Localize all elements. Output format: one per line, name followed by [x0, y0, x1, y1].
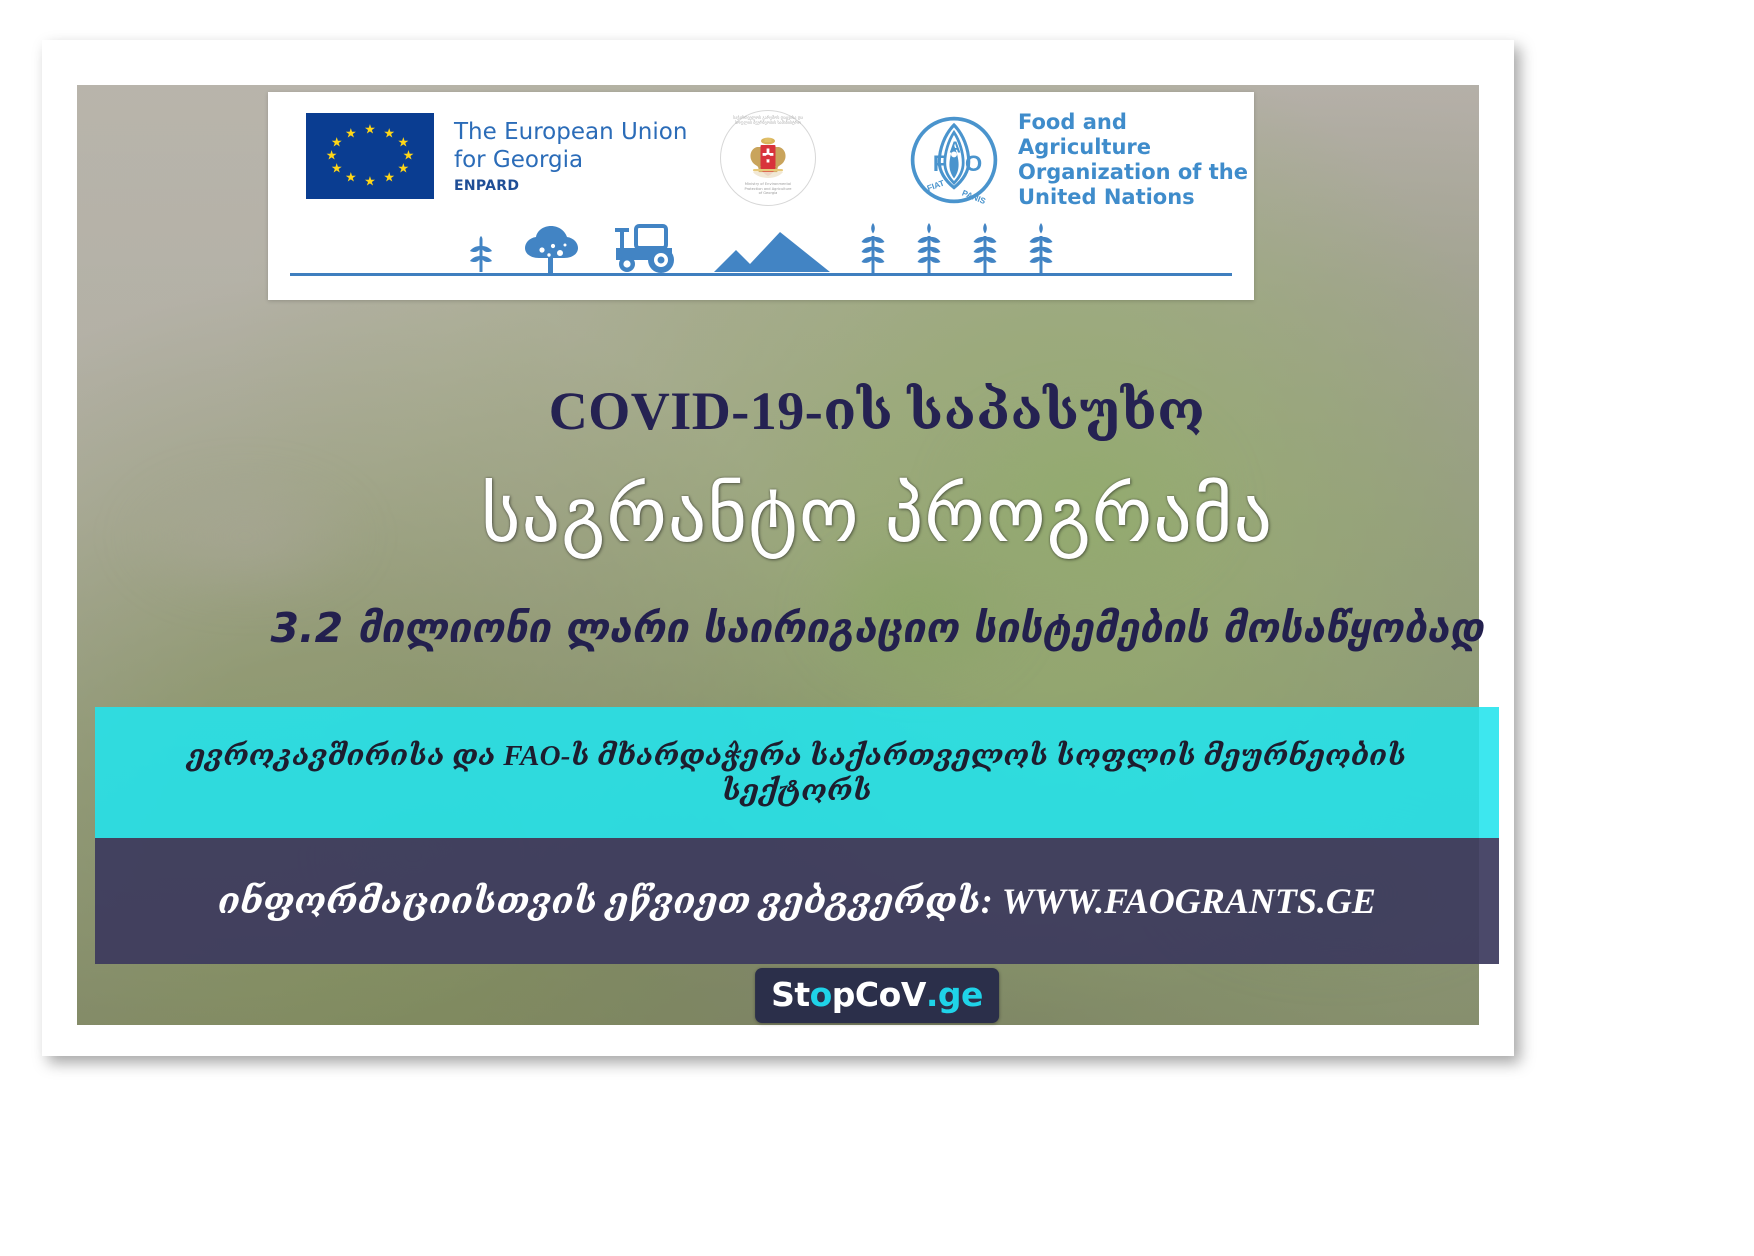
page-title-main: საგრანტო პროგრამა [0, 470, 1754, 559]
fao-logo-block: F A O FIAT PANIS Food and Agriculture Or… [908, 110, 1254, 210]
fao-logo-text: Food and Agriculture Organization of the… [1018, 110, 1254, 210]
agriculture-icon-strip [290, 216, 1232, 284]
seal-caption-ka: საქართველოს გარემოს დაცვისა და სოფლის მე… [725, 115, 811, 125]
eu-flag-icon: ★ ★ ★ ★ ★ ★ ★ ★ ★ ★ ★ ★ [306, 113, 434, 199]
svg-text:FIAT: FIAT [926, 179, 946, 194]
svg-text:F: F [933, 151, 947, 176]
page-subtitle: 3.2 მილიონი ლარი საირიგაციო სისტემების მ… [0, 604, 1754, 652]
seal-caption-en: Ministry of Environmental Protection and… [731, 182, 805, 196]
banner-divider-rule [290, 273, 1232, 276]
fao-line3: United Nations [1018, 185, 1254, 210]
coat-of-arms-icon [744, 136, 792, 180]
fao-emblem-icon: F A O FIAT PANIS [908, 114, 1000, 206]
banner-logo-row: ★ ★ ★ ★ ★ ★ ★ ★ ★ ★ ★ ★ The European Uni… [268, 92, 1254, 220]
eu-line2: for Georgia [454, 146, 687, 174]
wheat-icon-3 [970, 222, 1000, 274]
cyan-info-band: ევროკავშირისა და FAO-ს მხარდაჭერა საქართ… [95, 707, 1499, 838]
eu-programme-label: ENPARD [454, 178, 687, 194]
stopcov-part-ge: .ge [926, 975, 983, 1014]
wheat-icon-1 [858, 222, 888, 274]
poster-page: ★ ★ ★ ★ ★ ★ ★ ★ ★ ★ ★ ★ The European Uni… [0, 0, 1754, 1256]
page-title-covid: COVID-19-ის საპასუხო [0, 378, 1754, 442]
svg-text:O: O [965, 151, 982, 176]
eu-line1: The European Union [454, 118, 687, 146]
stopcov-part-o: o [810, 975, 832, 1014]
stopcov-part-st: St [771, 975, 810, 1014]
sprout-icon [466, 230, 496, 274]
eu-logo-text: The European Union for Georgia ENPARD [454, 118, 687, 194]
eu-logo-block: ★ ★ ★ ★ ★ ★ ★ ★ ★ ★ ★ ★ The European Uni… [306, 113, 687, 199]
wheat-icon-2 [914, 222, 944, 274]
wheat-icon-4 [1026, 222, 1056, 274]
navy-band-text: ინფორმაციისთვის ეწვიეთ ვებგვერდს: WWW.FA… [200, 880, 1394, 922]
donor-banner: ★ ★ ★ ★ ★ ★ ★ ★ ★ ★ ★ ★ The European Uni… [268, 92, 1254, 300]
georgia-ministry-seal: საქართველოს გარემოს დაცვისა და სოფლის მე… [720, 110, 816, 206]
cyan-band-text: ევროკავშირისა და FAO-ს მხარდაჭერა საქართ… [95, 738, 1499, 808]
stopcov-logo[interactable]: StopCoV.ge [755, 968, 999, 1023]
mountains-icon [712, 224, 832, 274]
icon-row [290, 216, 1232, 274]
website-url[interactable]: WWW.FAOGRANTS.GE [1002, 881, 1376, 921]
tree-icon [522, 224, 580, 274]
tractor-icon [606, 222, 686, 274]
website-prompt-label: ინფორმაციისთვის ეწვიეთ ვებგვერდს: [218, 881, 1002, 921]
stopcov-part-pcov: pCoV [832, 975, 926, 1014]
navy-website-band: ინფორმაციისთვის ეწვიეთ ვებგვერდს: WWW.FA… [95, 838, 1499, 964]
svg-text:A: A [949, 140, 960, 157]
fao-line1: Food and Agriculture [1018, 110, 1254, 160]
fao-line2: Organization of the [1018, 160, 1254, 185]
